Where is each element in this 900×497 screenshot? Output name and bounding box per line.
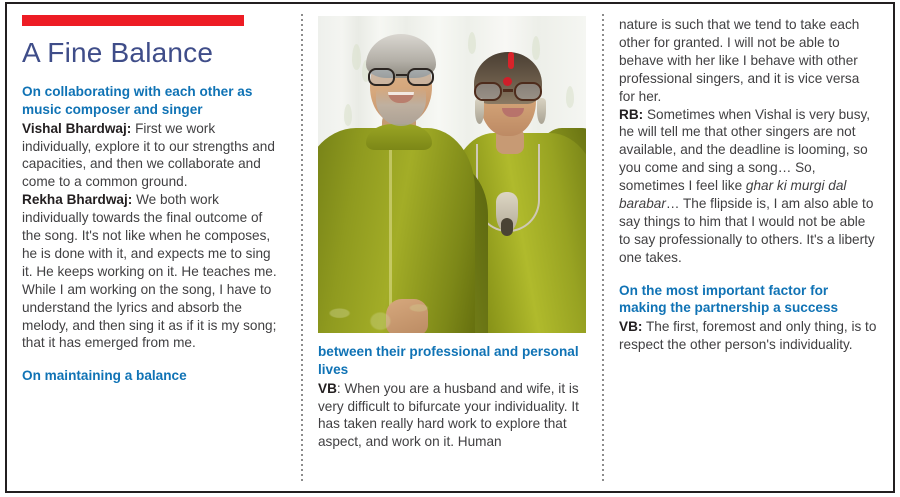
curtain-motif-icon bbox=[344, 104, 352, 126]
column-two: between their professional and personal … bbox=[303, 4, 594, 491]
paragraph-vb-text: : When you are a husband and wife, it is… bbox=[318, 381, 579, 450]
paragraph-vb-respect-text: The first, foremost and only thing, is t… bbox=[619, 319, 876, 352]
paragraph-rb-deadline: RB: Sometimes when Vishal is very busy, … bbox=[619, 106, 877, 267]
red-accent-bar bbox=[22, 15, 244, 26]
speaker-label-vb: VB bbox=[318, 381, 337, 396]
magazine-page: A Fine Balance On collaborating with eac… bbox=[0, 0, 900, 497]
page-title: A Fine Balance bbox=[22, 36, 278, 70]
paragraph-vb-respect: VB: The first, foremost and only thing, … bbox=[619, 318, 877, 354]
speaker-label-vb-2: VB: bbox=[619, 319, 642, 334]
paragraph-rekha-collaborating: Rekha Bhardwaj: We both work individuall… bbox=[22, 191, 278, 352]
man-eyeglasses-icon bbox=[368, 68, 434, 87]
paragraph-vishal-collaborating: Vishal Bhardwaj: First we work individua… bbox=[22, 120, 278, 192]
curtain-motif-icon bbox=[532, 36, 540, 60]
paragraph-human-nature: nature is such that we tend to take each… bbox=[619, 16, 877, 106]
section-heading-collaborating: On collaborating with each other as musi… bbox=[22, 83, 278, 119]
curtain-motif-icon bbox=[468, 32, 476, 54]
kurta-embroidery bbox=[318, 267, 438, 333]
curtain-motif-icon bbox=[566, 86, 574, 108]
paragraph-spacer bbox=[22, 352, 278, 367]
column-one: A Fine Balance On collaborating with eac… bbox=[7, 4, 292, 491]
speaker-label-rb: RB: bbox=[619, 107, 643, 122]
paragraph-rekha-text: We both work individually towards the fi… bbox=[22, 192, 277, 350]
woman-pendant bbox=[496, 192, 518, 232]
three-column-layout: A Fine Balance On collaborating with eac… bbox=[7, 4, 893, 491]
speaker-label-vishal: Vishal Bhardwaj: bbox=[22, 121, 131, 136]
woman-eyeglasses-icon bbox=[474, 82, 542, 102]
paragraph-vb-bifurcate: VB: When you are a husband and wife, it … bbox=[318, 380, 584, 452]
curtain-motif-icon bbox=[352, 44, 361, 70]
section-heading-continued: between their professional and personal … bbox=[318, 343, 584, 379]
section-heading-success: On the most important factor for making … bbox=[619, 282, 877, 318]
paragraph-spacer bbox=[619, 267, 877, 282]
woman-sindoor bbox=[508, 52, 514, 69]
photo-vishal-and-rekha bbox=[318, 16, 586, 333]
speaker-label-rekha: Rekha Bhardwaj: bbox=[22, 192, 132, 207]
column-three: nature is such that we tend to take each… bbox=[604, 4, 889, 491]
man-collar bbox=[366, 124, 432, 150]
section-heading-balance: On maintaining a balance bbox=[22, 367, 278, 385]
